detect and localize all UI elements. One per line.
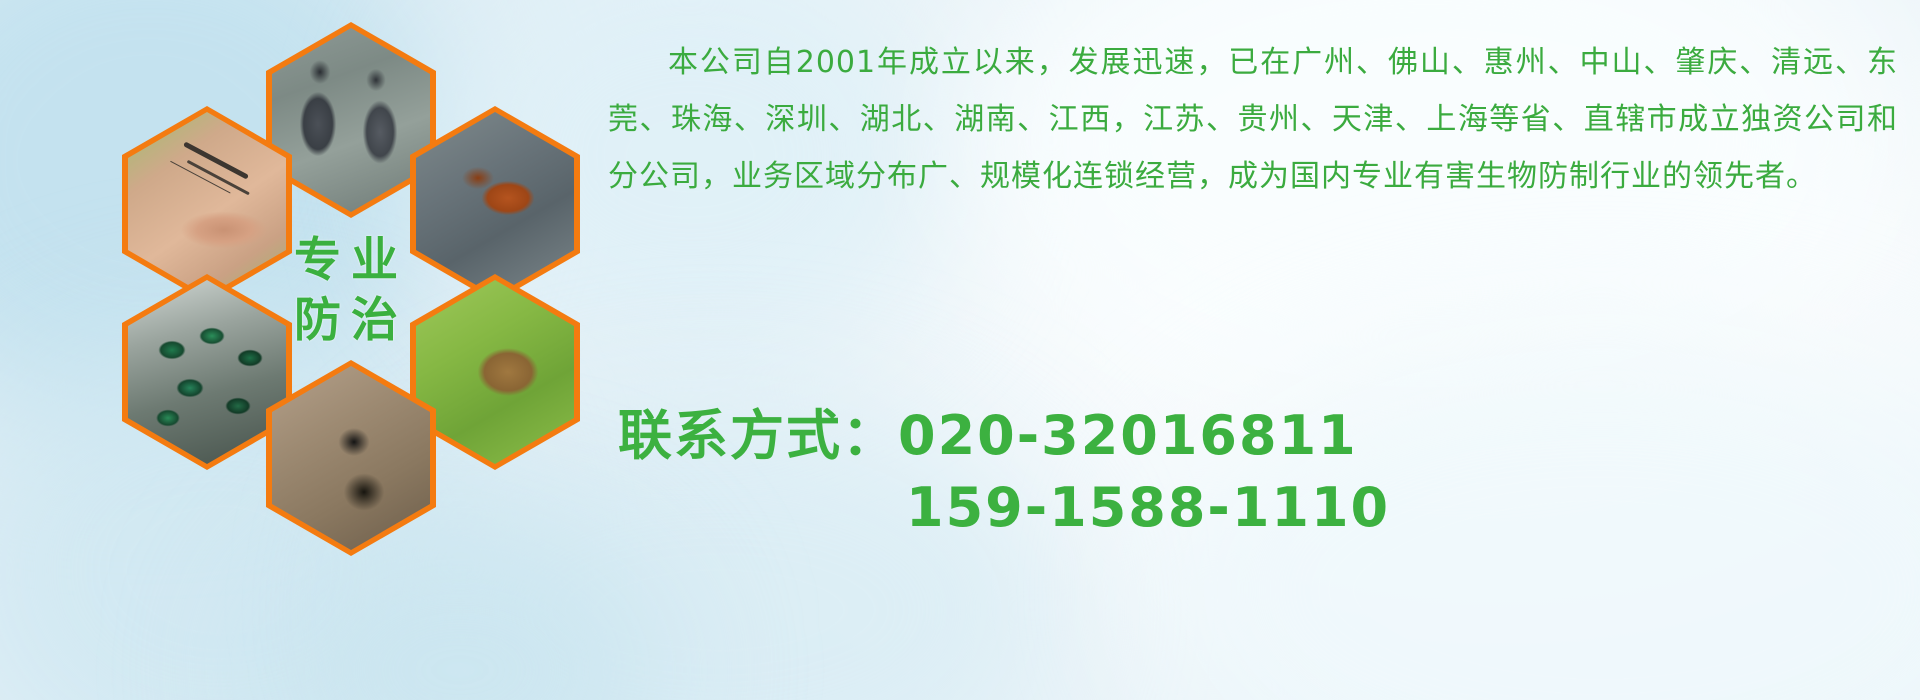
contact-mobile-line[interactable]: 159-1588-1110 <box>618 472 1898 544</box>
rats-photo <box>272 28 430 212</box>
contact-block: 联系方式：020-32016811 159-1588-1110 <box>618 400 1898 544</box>
banner-root: 专业 防治 本公司自2001年成立以来，发展迅速，已在广州、佛山、惠州、中山、肇… <box>0 0 1920 700</box>
cockroach-photo <box>416 112 574 296</box>
ant-photo <box>272 366 430 550</box>
intro-paragraph: 本公司自2001年成立以来，发展迅速，已在广州、佛山、惠州、中山、肇庆、清远、东… <box>608 34 1898 205</box>
stinkbug-photo <box>416 280 574 464</box>
honeycomb-slogan: 专业 防治 <box>256 200 436 382</box>
contact-primary-line[interactable]: 联系方式：020-32016811 <box>618 400 1898 472</box>
slogan-line-1: 专业 <box>284 231 408 291</box>
intro-block: 本公司自2001年成立以来，发展迅速，已在广州、佛山、惠州、中山、肇庆、清远、东… <box>608 34 1898 205</box>
honeycomb-collage: 专业 防治 <box>80 4 600 574</box>
slogan-line-2: 防治 <box>284 291 408 351</box>
